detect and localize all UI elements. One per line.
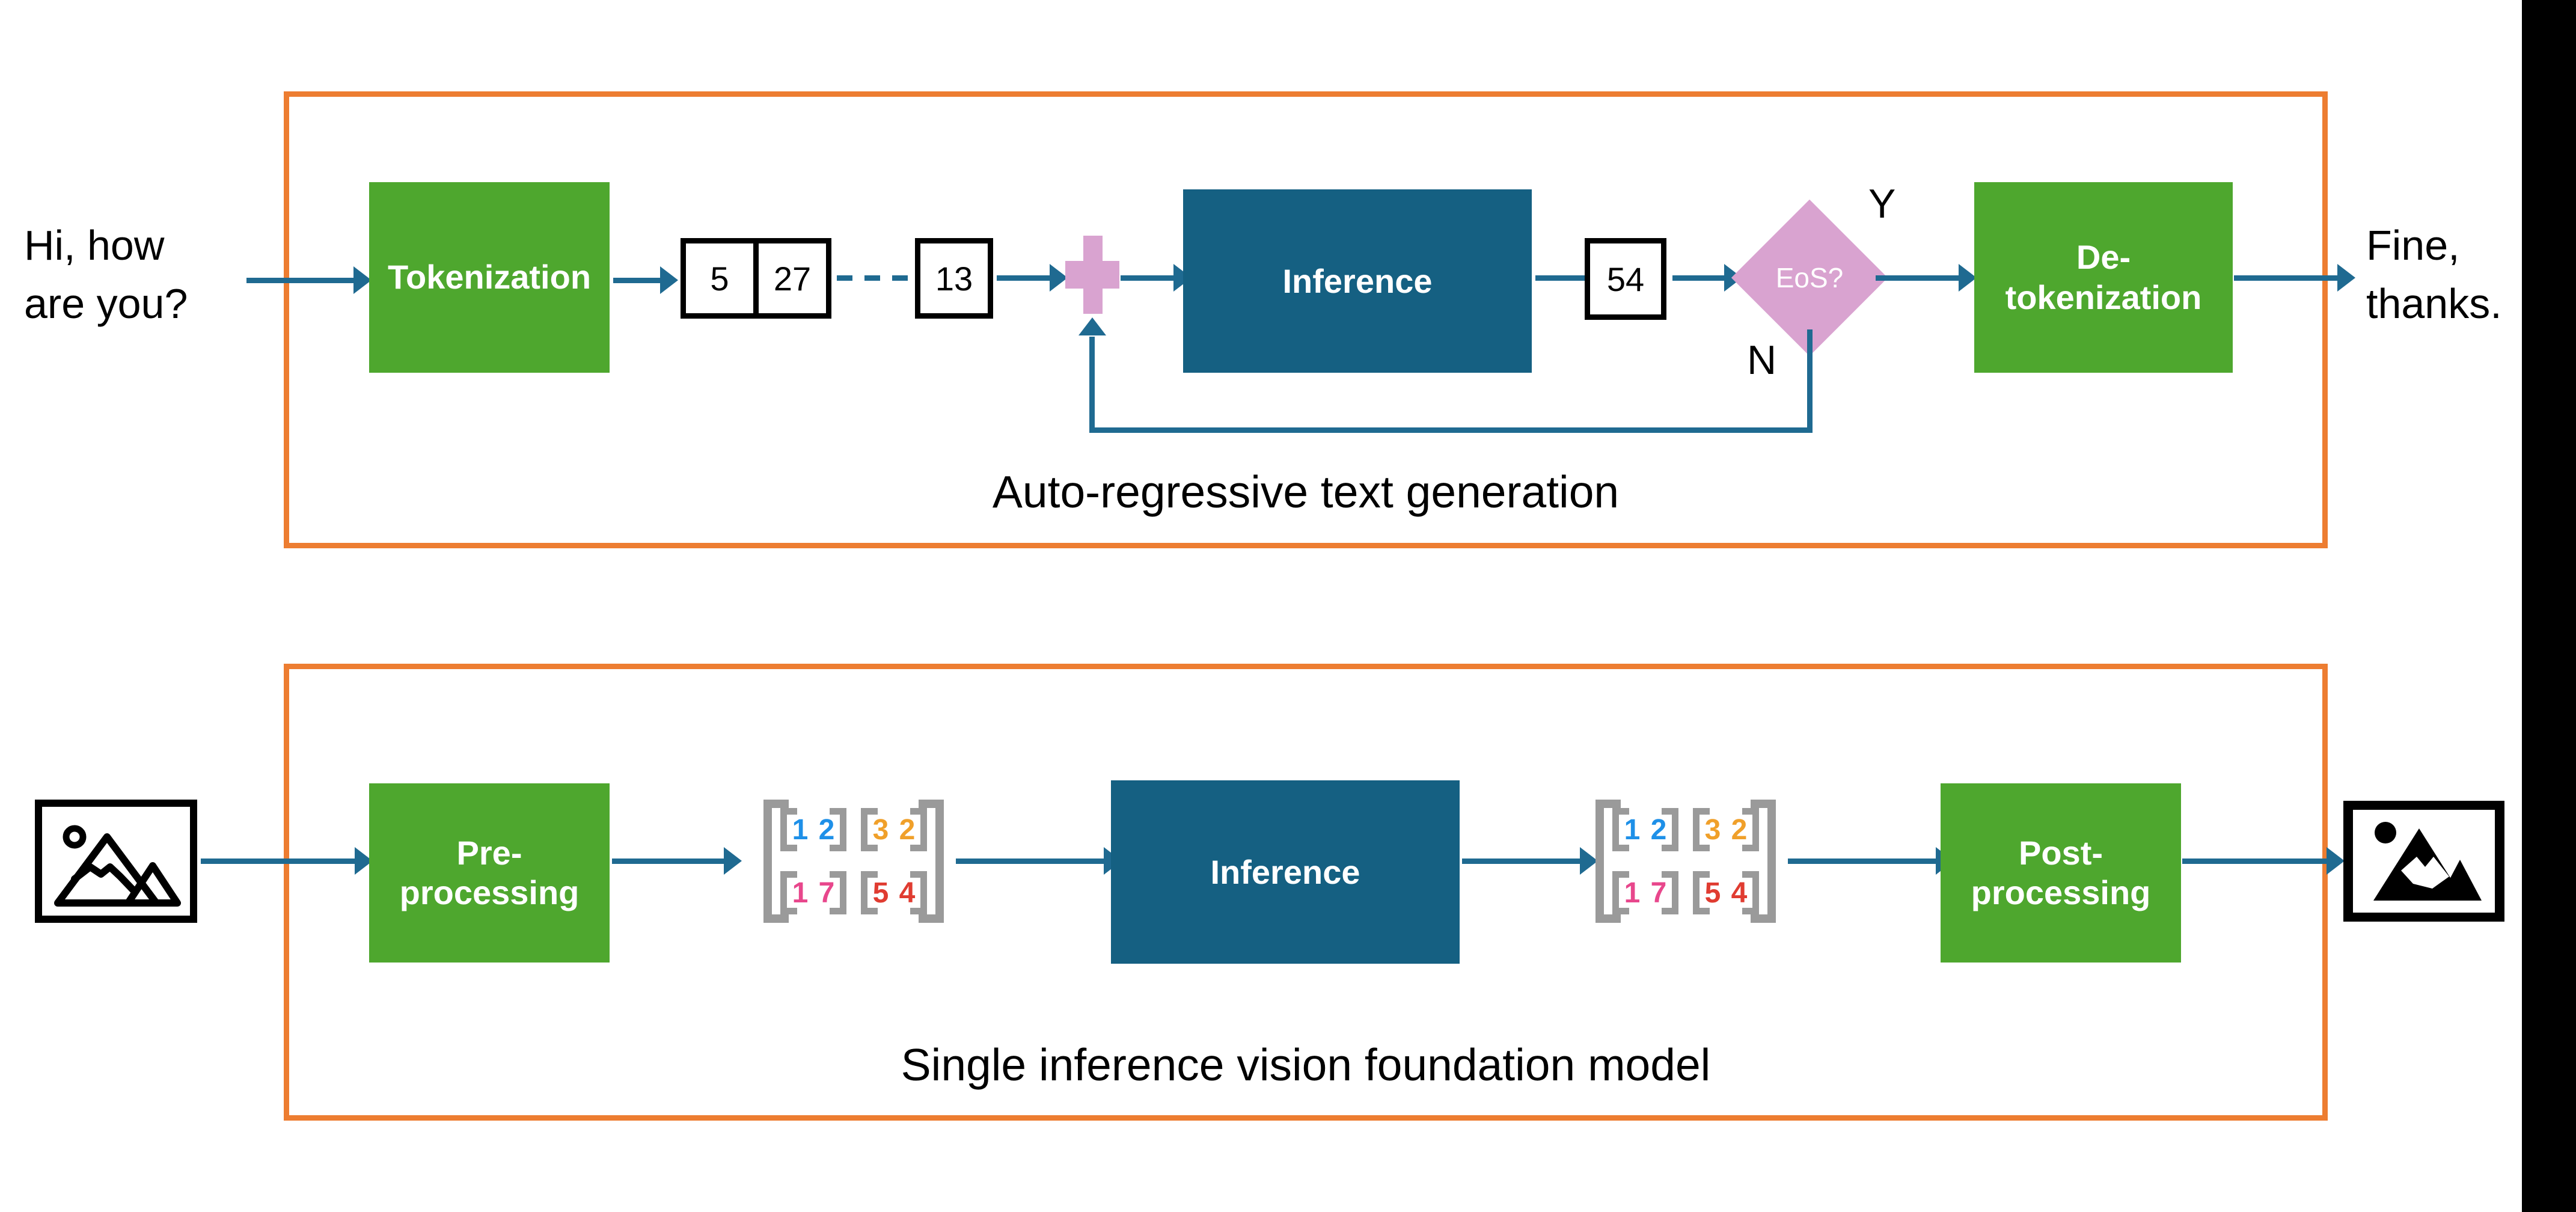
tensor-out-cell-1-2: 5 (1699, 877, 1726, 910)
tensor-out-cell-1-1: 7 (1645, 877, 1672, 910)
arrow-input-to-tokenization (246, 278, 355, 283)
token-box-1: 27 (753, 238, 831, 319)
arrow-tokens-to-plus (997, 275, 1051, 281)
arrow-output-token-to-eos (1672, 275, 1725, 281)
panel1-caption: Auto-regressive text generation (284, 466, 2328, 518)
feedback-loop-up (1089, 337, 1095, 430)
arrow-preprocessing-to-tensor (612, 858, 726, 864)
token-ellipsis-dash (837, 275, 909, 281)
feedback-loop-horizontal (1089, 427, 1811, 433)
tensor-in-cell-1-2: 5 (867, 877, 894, 910)
arrow-plus-to-inference (1121, 275, 1175, 281)
tensor-out-cell-1-0: 1 (1619, 877, 1645, 910)
preprocessing-box[interactable]: Pre- processing (369, 783, 610, 963)
token-box-last: 13 (915, 238, 993, 319)
arrow-inference-to-tensor-out (1462, 858, 1582, 864)
arrow-tensor-to-inference (956, 858, 1106, 864)
right-black-band (2522, 0, 2576, 1212)
tensor-out-cell-0-1: 2 (1645, 813, 1672, 846)
feedback-loop-down (1807, 329, 1813, 433)
image-filled-icon (2342, 800, 2506, 923)
tensor-input: 1 2 3 2 1 7 (763, 800, 944, 923)
tensor-out-cell-0-2: 3 (1699, 813, 1726, 846)
tensor-in-cell-0-0: 1 (787, 813, 813, 846)
postprocessing-box[interactable]: Post- processing (1941, 783, 2181, 963)
tensor-in-cell-1-0: 1 (787, 877, 813, 910)
image-outline-icon (35, 800, 197, 923)
tensor-out-cell-0-0: 1 (1619, 813, 1645, 846)
tensor-in-cell-1-1: 7 (813, 877, 840, 910)
tensor-in-cell-0-2: 3 (867, 813, 894, 846)
diagram-canvas: Hi, how are you? Tokenization 5 27 13 In… (0, 0, 2576, 1212)
arrow-image-to-preprocessing (201, 858, 357, 864)
arrow-eos-to-detokenization (1876, 275, 1960, 281)
tensor-out-cell-0-3: 2 (1726, 813, 1752, 846)
arrow-head-detokenization-to-output (2337, 264, 2355, 292)
token-box-0: 5 (681, 238, 759, 319)
tensor-output: 1 2 3 2 1 7 (1595, 800, 1776, 923)
eos-no-label: N (1747, 337, 1776, 384)
arrow-postprocessing-to-image (2182, 858, 2329, 864)
arrow-tensor-out-to-postprocessing (1788, 858, 1938, 864)
eos-decision-diamond[interactable]: EoS? (1754, 222, 1865, 333)
panel2-caption: Single inference vision foundation model (284, 1039, 2328, 1091)
arrow-detokenization-to-output (2234, 275, 2339, 281)
tensor-in-cell-1-3: 4 (894, 877, 920, 910)
output-token-box: 54 (1585, 238, 1666, 320)
tokenization-box[interactable]: Tokenization (369, 182, 610, 373)
detokenization-box[interactable]: De- tokenization (1974, 182, 2233, 373)
arrow-tokenization-to-tokens (613, 278, 661, 283)
arrow-head-preprocessing-to-tensor (724, 847, 742, 875)
tensor-in-cell-0-3: 2 (894, 813, 920, 846)
tensor-in-cell-0-1: 2 (813, 813, 840, 846)
inference-box-text[interactable]: Inference (1183, 189, 1532, 373)
arrow-head-feedback-to-plus (1078, 317, 1106, 335)
inference-box-vision[interactable]: Inference (1111, 780, 1460, 964)
input-text-prompt: Hi, how are you? (24, 216, 265, 332)
arrow-head-tokenization-to-tokens (660, 266, 678, 294)
eos-yes-label: Y (1868, 180, 1895, 227)
plus-combiner-icon (1065, 236, 1119, 314)
eos-diamond-label: EoS? (1754, 222, 1865, 333)
tensor-out-cell-1-3: 4 (1726, 877, 1752, 910)
